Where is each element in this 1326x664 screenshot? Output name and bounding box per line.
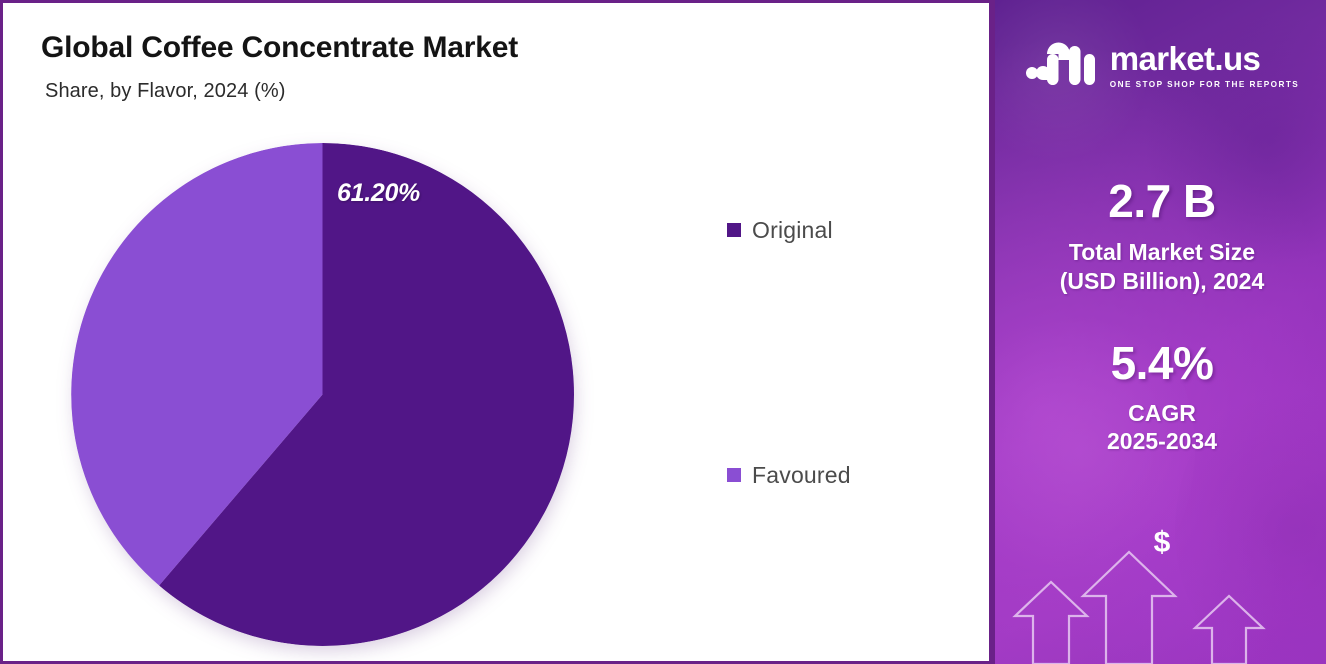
market-size-value: 2.7 B [995,178,1326,224]
legend-item-favoured[interactable]: Favoured [727,462,957,488]
legend-label-original: Original [752,219,833,242]
background-texture [1035,470,1295,664]
growth-arrows-decoration: $ [995,504,1326,664]
arrow-up-left-icon [1015,582,1087,664]
legend-swatch-icon [727,468,741,482]
stats-sidebar: market.us ONE STOP SHOP FOR THE REPORTS … [992,0,1326,664]
cagr-value: 5.4% [995,340,1326,386]
dollar-sign-icon: $ [995,528,1326,558]
market-size-caption-line1: Total Market Size [995,238,1326,267]
logo-text: market.us ONE STOP SHOP FOR THE REPORTS [1110,42,1299,89]
brand-logo[interactable]: market.us ONE STOP SHOP FOR THE REPORTS [995,40,1326,91]
logo-tagline: ONE STOP SHOP FOR THE REPORTS [1110,80,1299,89]
title-block: Global Coffee Concentrate Market Share, … [41,31,941,103]
pie-data-label-original: 61.20% [337,179,420,208]
pie-chart: 61.20% [71,143,577,649]
cagr-caption: CAGR 2025-2034 [995,399,1326,457]
logo-wordmark: market.us [1110,42,1261,75]
market-size-caption-line2: (USD Billion), 2024 [995,267,1326,296]
legend-swatch-icon [727,223,741,237]
stats-block: 2.7 B Total Market Size (USD Billion), 2… [995,178,1326,456]
cagr-caption-line1: CAGR [995,399,1326,428]
chart-panel: Global Coffee Concentrate Market Share, … [0,0,992,664]
legend: Original Favoured [727,217,957,488]
page-title: Global Coffee Concentrate Market [41,31,941,66]
page-subtitle: Share, by Flavor, 2024 (%) [45,80,941,103]
legend-item-original[interactable]: Original [727,217,957,243]
legend-label-favoured: Favoured [752,464,851,487]
market-size-caption: Total Market Size (USD Billion), 2024 [995,238,1326,296]
infographic-page: Global Coffee Concentrate Market Share, … [0,0,1326,664]
arrow-up-right-icon [1195,596,1263,664]
cagr-caption-line2: 2025-2034 [995,427,1326,456]
pie-slices [71,143,574,646]
market-us-logo-icon [1025,40,1097,91]
arrow-up-center-icon [1083,552,1175,664]
